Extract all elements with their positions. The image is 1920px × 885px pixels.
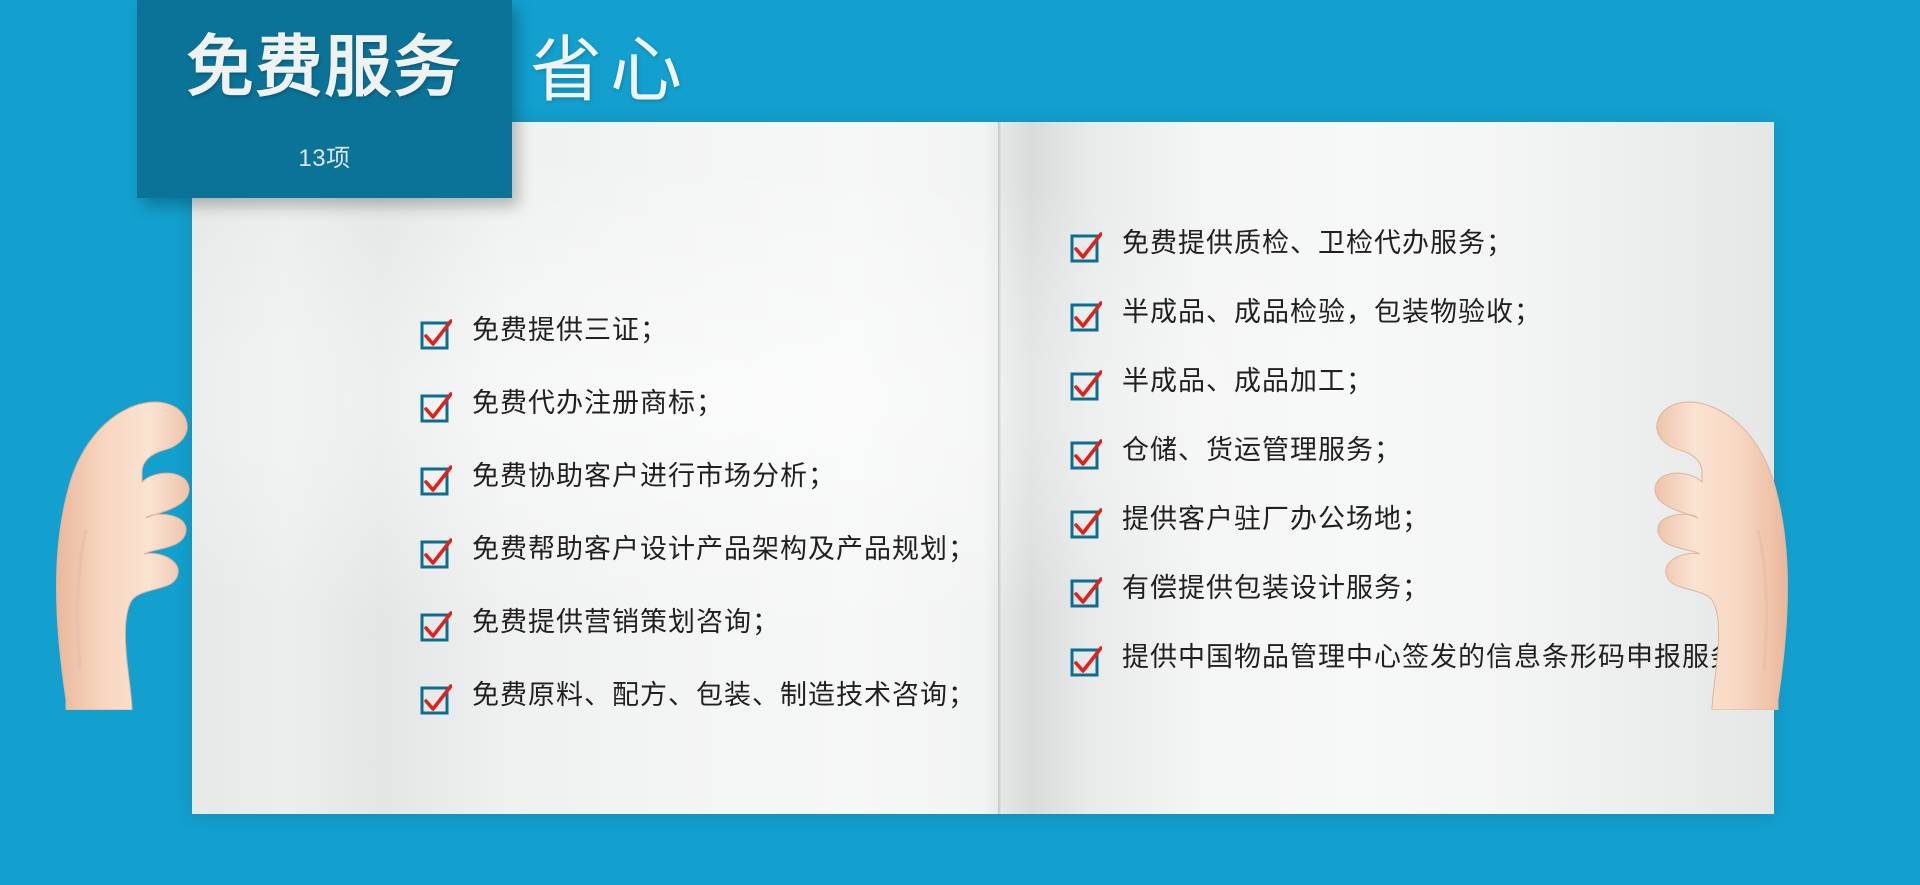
list-item[interactable]: 半成品、成品检验，包装物验收； [1070, 297, 1890, 333]
checkbox-checked-icon[interactable] [1070, 232, 1102, 264]
checkbox-checked-icon[interactable] [420, 611, 452, 643]
checkbox-checked-icon[interactable] [420, 319, 452, 351]
list-item-label: 免费提供质检、卫检代办服务； [1122, 228, 1514, 260]
list-item[interactable]: 免费协助客户进行市场分析； [420, 461, 1180, 497]
list-item[interactable]: 免费原料、配方、包装、制造技术咨询； [420, 680, 1180, 716]
checkbox-checked-icon[interactable] [1070, 508, 1102, 540]
list-item-label: 免费帮助客户设计产品架构及产品规划； [472, 534, 976, 566]
checkbox-checked-icon[interactable] [1070, 439, 1102, 471]
checkbox-checked-icon[interactable] [1070, 370, 1102, 402]
list-item-label: 免费协助客户进行市场分析； [472, 461, 836, 493]
list-item-label: 免费代办注册商标； [472, 388, 724, 420]
list-item-label: 半成品、成品加工； [1122, 366, 1374, 398]
list-item-label: 提供客户驻厂办公场地； [1122, 504, 1430, 536]
list-item-label: 半成品、成品检验，包装物验收； [1122, 297, 1542, 329]
list-item-label: 免费提供三证； [472, 315, 668, 347]
list-item[interactable]: 免费提供三证； [420, 315, 1180, 351]
list-item-label: 仓储、货运管理服务； [1122, 435, 1402, 467]
list-item-label: 免费原料、配方、包装、制造技术咨询； [472, 680, 976, 712]
left-service-list: 免费提供三证； 免费代办注册商标； 免费协助客户进行市场分析； 免费帮助客户设计… [420, 315, 1180, 753]
checkbox-checked-icon[interactable] [420, 392, 452, 424]
free-service-badge: 免费服务 13项 [137, 0, 512, 198]
list-item-label: 有偿提供包装设计服务； [1122, 573, 1430, 605]
checkbox-checked-icon[interactable] [420, 465, 452, 497]
checkbox-checked-icon[interactable] [1070, 301, 1102, 333]
hand-right-icon [1628, 370, 1798, 715]
badge-count: 13项 [137, 145, 512, 173]
hand-left-icon [46, 370, 216, 715]
checkbox-checked-icon[interactable] [420, 538, 452, 570]
badge-title: 免费服务 [137, 28, 512, 108]
page-headline: 省心 [530, 28, 690, 114]
list-item[interactable]: 免费代办注册商标； [420, 388, 1180, 424]
checkbox-checked-icon[interactable] [1070, 646, 1102, 678]
list-item[interactable]: 免费提供质检、卫检代办服务； [1070, 228, 1890, 264]
checkbox-checked-icon[interactable] [1070, 577, 1102, 609]
list-item[interactable]: 免费提供营销策划咨询； [420, 607, 1180, 643]
list-item[interactable]: 免费帮助客户设计产品架构及产品规划； [420, 534, 1180, 570]
checkbox-checked-icon[interactable] [420, 684, 452, 716]
list-item-label: 免费提供营销策划咨询； [472, 607, 780, 639]
